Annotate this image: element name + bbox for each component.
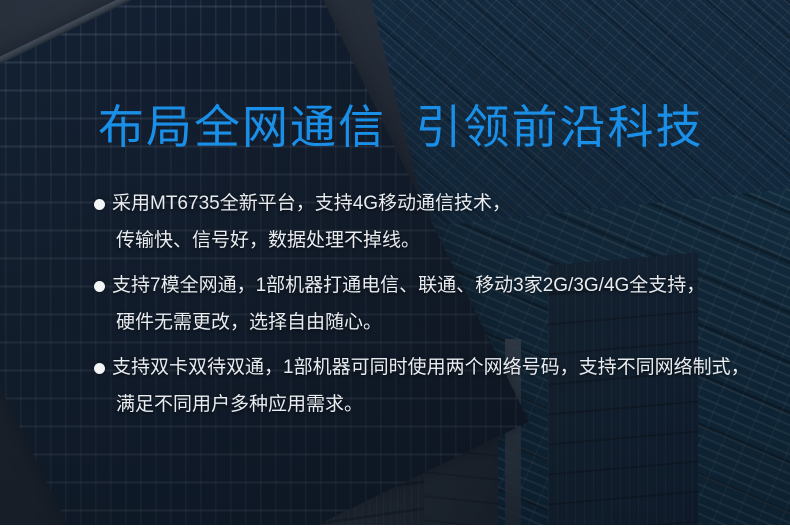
feature-primary-line: 采用MT6735全新平台，支持4G移动通信技术，	[94, 190, 754, 227]
banner-content: 布局全网通信 引领前沿科技 采用MT6735全新平台，支持4G移动通信技术， 传…	[0, 0, 790, 529]
bottom-edge-strip	[0, 525, 790, 529]
feature-text: 支持双卡双待双通，1部机器可同时使用两个网络号码，支持不同网络制式，	[112, 354, 750, 382]
feature-secondary-line: 硬件无需更改，选择自由随心。	[94, 309, 754, 346]
feature-secondary-line: 传输快、信号好，数据处理不掉线。	[94, 227, 754, 264]
feature-text: 支持7模全网通，1部机器打通电信、联通、移动3家2G/3G/4G全支持，	[112, 272, 705, 300]
feature-text: 硬件无需更改，选择自由随心。	[112, 309, 382, 337]
feature-list: 采用MT6735全新平台，支持4G移动通信技术， 传输快、信号好，数据处理不掉线…	[94, 190, 754, 436]
bullet-dot-icon	[94, 281, 105, 292]
feature-text: 采用MT6735全新平台，支持4G移动通信技术，	[112, 190, 511, 218]
product-feature-banner: 布局全网通信 引领前沿科技 采用MT6735全新平台，支持4G移动通信技术， 传…	[0, 0, 790, 529]
bullet-dot-icon	[94, 199, 105, 210]
feature-item: 支持7模全网通，1部机器打通电信、联通、移动3家2G/3G/4G全支持， 硬件无…	[94, 272, 754, 346]
feature-secondary-line: 满足不同用户多种应用需求。	[94, 391, 754, 428]
feature-text: 满足不同用户多种应用需求。	[112, 391, 363, 419]
feature-primary-line: 支持7模全网通，1部机器打通电信、联通、移动3家2G/3G/4G全支持，	[94, 272, 754, 309]
feature-primary-line: 支持双卡双待双通，1部机器可同时使用两个网络号码，支持不同网络制式，	[94, 354, 754, 391]
banner-headline: 布局全网通信 引领前沿科技	[98, 104, 704, 150]
bullet-dot-icon	[94, 363, 105, 374]
feature-item: 支持双卡双待双通，1部机器可同时使用两个网络号码，支持不同网络制式， 满足不同用…	[94, 354, 754, 428]
feature-item: 采用MT6735全新平台，支持4G移动通信技术， 传输快、信号好，数据处理不掉线…	[94, 190, 754, 264]
feature-text: 传输快、信号好，数据处理不掉线。	[112, 227, 420, 255]
